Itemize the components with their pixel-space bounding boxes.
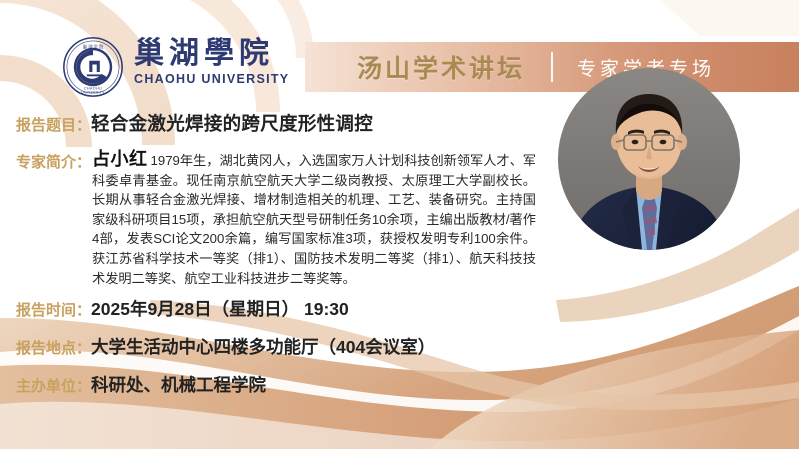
lecture-place-row: 报告地点： 大学生活动中心四楼多功能厅（404会议室） [16, 334, 435, 359]
lecture-place-value: 大学生活动中心四楼多功能厅（404会议室） [91, 334, 435, 359]
svg-text:CHAOHU: CHAOHU [84, 86, 102, 90]
lecture-title-label: 报告题目： [16, 114, 91, 135]
organizer-row: 主办单位： 科研处、机械工程学院 [16, 372, 266, 397]
organizer-label: 主办单位： [16, 375, 91, 396]
university-name-en: CHAOHU UNIVERSITY [134, 72, 314, 86]
poster-root: 巢 湖 学 院 CHAOHU UNIVERSITY 巢湖學院 CHAOHU UN… [0, 0, 799, 449]
svg-text:巢 湖 学 院: 巢 湖 学 院 [83, 43, 104, 50]
event-banner: 汤山学术讲坛 专家学者专场 [305, 42, 799, 92]
speaker-portrait [558, 68, 740, 250]
banner-main-title: 汤山学术讲坛 [357, 49, 525, 85]
speaker-name: 占小红 [92, 149, 148, 169]
speaker-bio-body: 占小红1979年生，湖北黄冈人，入选国家万人计划科技创新领军人才、军科委卓青基金… [92, 150, 536, 288]
lecture-time-row: 报告时间： 2025年9月28日（星期日） 19:30 [16, 296, 349, 321]
lecture-title-value: 轻合金激光焊接的跨尺度形性调控 [91, 110, 373, 136]
banner-divider [551, 52, 553, 82]
university-logo: 巢 湖 学 院 CHAOHU UNIVERSITY [62, 36, 124, 98]
lecture-title-row: 报告题目： 轻合金激光焊接的跨尺度形性调控 [16, 110, 373, 136]
university-name-block: 巢湖學院 CHAOHU UNIVERSITY [134, 38, 314, 86]
organizer-value: 科研处、机械工程学院 [91, 372, 266, 397]
speaker-bio-row: 专家简介： 占小红1979年生，湖北黄冈人，入选国家万人计划科技创新领军人才、军… [16, 150, 536, 288]
speaker-bio-text: 1979年生，湖北黄冈人，入选国家万人计划科技创新领军人才、军科委卓青基金。现任… [92, 153, 536, 286]
university-name-cn: 巢湖學院 [134, 38, 314, 70]
lecture-time-label: 报告时间： [16, 299, 91, 320]
chaohu-university-emblem-icon: 巢 湖 学 院 CHAOHU UNIVERSITY [62, 36, 124, 98]
lecture-place-label: 报告地点： [16, 337, 91, 358]
lecture-time-value: 2025年9月28日（星期日） 19:30 [91, 296, 349, 321]
speaker-portrait-image [558, 68, 740, 250]
svg-text:UNIVERSITY: UNIVERSITY [81, 91, 105, 95]
speaker-bio-label: 专家简介： [16, 150, 91, 172]
